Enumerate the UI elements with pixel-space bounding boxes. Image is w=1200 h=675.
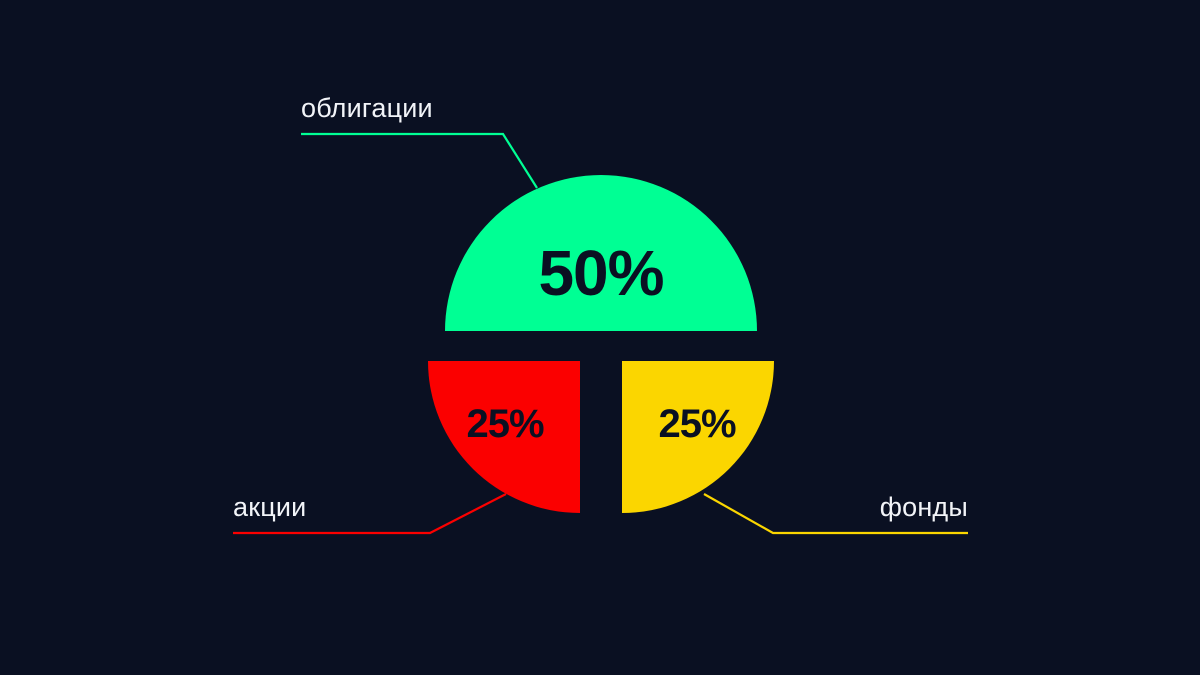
callout-line-bonds-path [301, 134, 537, 188]
pie-slice-bonds-value: 50% [538, 237, 663, 309]
pie-slice-bonds[interactable]: 50% [445, 175, 757, 331]
pie-slice-funds-value: 25% [658, 402, 735, 446]
pie-label-stocks: акции [233, 492, 306, 522]
pie-chart: 50% 25% 25% облигации акции фонды [0, 0, 1200, 675]
pie-label-funds: фонды [880, 492, 968, 522]
pie-slice-stocks[interactable]: 25% [428, 361, 580, 513]
chart-canvas: 50% 25% 25% облигации акции фонды [0, 0, 1200, 675]
pie-slice-stocks-value: 25% [466, 402, 543, 446]
pie-slice-funds[interactable]: 25% [622, 361, 774, 513]
pie-label-bonds: облигации [301, 93, 433, 123]
callout-line-bonds [301, 134, 537, 188]
